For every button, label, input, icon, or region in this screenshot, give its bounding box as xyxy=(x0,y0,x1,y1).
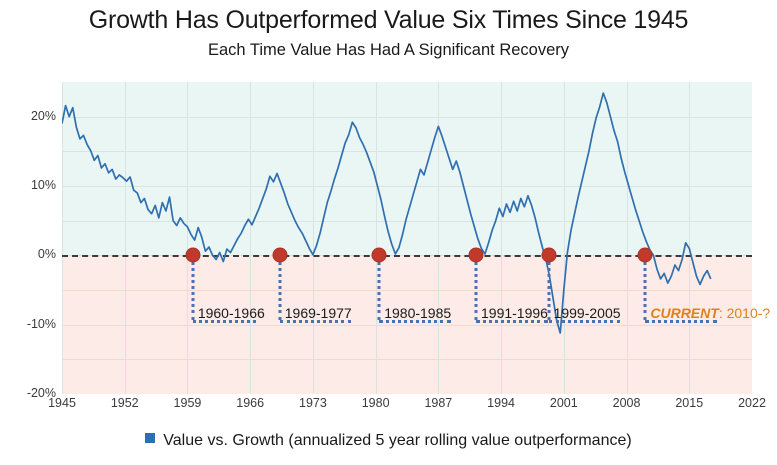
legend-swatch-icon xyxy=(145,433,155,443)
chart-title: Growth Has Outperformed Value Six Times … xyxy=(0,6,777,35)
y-axis-tick-label: 20% xyxy=(4,109,56,123)
y-axis: 20%10%0%-10%-20% xyxy=(0,82,56,394)
x-axis: 1945195219591966197319801987199420012008… xyxy=(62,396,752,418)
chart-legend: Value vs. Growth (annualized 5 year roll… xyxy=(0,432,777,450)
y-axis-tick-label: 0% xyxy=(4,247,56,261)
x-axis-tick-label: 2008 xyxy=(613,396,641,410)
x-axis-tick-label: 1952 xyxy=(111,396,139,410)
legend-label: Value vs. Growth (annualized 5 year roll… xyxy=(163,432,631,449)
x-axis-tick-label: 1987 xyxy=(424,396,452,410)
x-axis-tick-label: 1973 xyxy=(299,396,327,410)
x-axis-tick-label: 2022 xyxy=(738,396,766,410)
chart-root: Growth Has Outperformed Value Six Times … xyxy=(0,0,777,465)
x-axis-tick-label: 1966 xyxy=(236,396,264,410)
y-axis-tick-label: 10% xyxy=(4,178,56,192)
x-axis-tick-label: 1980 xyxy=(362,396,390,410)
x-axis-tick-label: 1994 xyxy=(487,396,515,410)
series-path xyxy=(62,93,711,333)
x-axis-tick-label: 2001 xyxy=(550,396,578,410)
chart-subtitle: Each Time Value Has Had A Significant Re… xyxy=(0,41,777,60)
series-line xyxy=(62,82,752,394)
plot-area xyxy=(62,82,752,394)
x-axis-tick-label: 1945 xyxy=(48,396,76,410)
x-axis-tick-label: 1959 xyxy=(174,396,202,410)
x-axis-tick-label: 2015 xyxy=(675,396,703,410)
y-axis-tick-label: -10% xyxy=(4,317,56,331)
